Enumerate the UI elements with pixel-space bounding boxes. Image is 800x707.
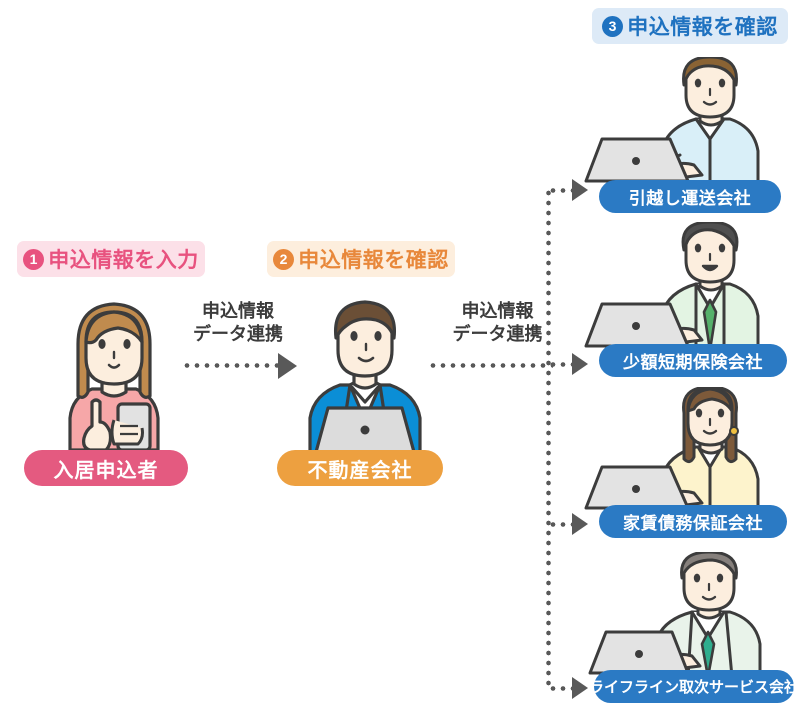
step-label-3: 申込情報を確認	[627, 11, 778, 41]
step-number-2: 2	[273, 249, 294, 270]
applicant-illustration	[48, 292, 180, 450]
connector-1-line2: データ連携	[168, 323, 308, 346]
moving-company-illustration	[584, 57, 762, 185]
role-pill-lifeline-company-label: ライフライン取次サービス会社	[589, 676, 799, 697]
step-number-1: 1	[23, 249, 44, 270]
role-pill-insurance-company-label: 少額短期保険会社	[623, 348, 763, 373]
connector-1-line1: 申込情報	[168, 300, 308, 323]
role-pill-applicant: 入居申込者	[24, 450, 188, 486]
role-pill-realestate: 不動産会社	[277, 450, 443, 486]
realestate-illustration	[292, 290, 438, 452]
branch-4-arrowhead	[572, 677, 588, 699]
guarantee-company-illustration	[584, 387, 762, 512]
role-pill-guarantee-company-label: 家賃債務保証会社	[623, 509, 763, 534]
lifeline-company-illustration	[584, 552, 762, 677]
diagram-canvas: 3 申込情報を確認 1 申込情報を入力 2 申込情報を確認	[0, 0, 800, 707]
insurance-company-illustration	[584, 222, 762, 350]
connector-1-dotted-line	[182, 363, 280, 368]
role-pill-moving-company-label: 引越し運送会社	[629, 184, 752, 209]
connector-1-label: 申込情報 データ連携	[168, 300, 308, 346]
branch-3-arrowhead	[572, 513, 588, 535]
step-badge-3: 3 申込情報を確認	[592, 8, 788, 44]
step-badge-2: 2 申込情報を確認	[267, 241, 455, 277]
role-pill-applicant-label: 入居申込者	[54, 454, 159, 483]
branch-1-dotted-line	[548, 188, 574, 193]
role-pill-lifeline-company: ライフライン取次サービス会社	[594, 670, 794, 703]
step-label-1: 申込情報を入力	[48, 244, 199, 274]
branch-4-dotted-line	[548, 686, 574, 691]
step-number-3: 3	[602, 16, 623, 37]
branch-2-arrowhead	[572, 353, 588, 375]
connector-2-dotted-line	[428, 363, 553, 368]
step-label-2: 申込情報を確認	[298, 244, 449, 274]
branch-2-dotted-line	[548, 362, 574, 367]
branch-bus-vertical-line	[546, 188, 551, 688]
branch-3-dotted-line	[548, 522, 574, 527]
role-pill-realestate-label: 不動産会社	[308, 454, 413, 483]
role-pill-moving-company: 引越し運送会社	[599, 180, 781, 213]
step-badge-1: 1 申込情報を入力	[17, 241, 205, 277]
role-pill-insurance-company: 少額短期保険会社	[599, 344, 787, 377]
role-pill-guarantee-company: 家賃債務保証会社	[599, 505, 787, 538]
